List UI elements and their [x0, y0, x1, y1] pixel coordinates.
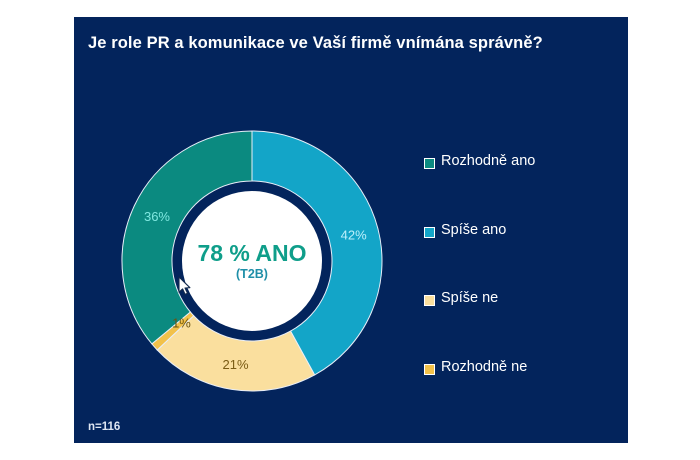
legend-item[interactable]: Rozhodně ano	[418, 158, 618, 227]
legend-item-label: Spíše ne	[441, 290, 498, 306]
mouse-pointer-icon	[178, 276, 192, 296]
presentation-slide: Je role PR a komunikace ve Vaší firmě vn…	[74, 17, 628, 443]
page-title: Je role PR a komunikace ve Vaší firmě vn…	[88, 34, 618, 53]
slice-value-label: 21%	[223, 357, 249, 372]
legend-swatch-icon	[424, 364, 435, 375]
screenshot-root: Je role PR a komunikace ve Vaší firmě vn…	[0, 0, 700, 460]
slice-value-label: 36%	[144, 209, 170, 224]
donut-chart: 42%21%1%36% 78 % ANO (T2B)	[122, 131, 382, 391]
legend-swatch-icon	[424, 158, 435, 169]
legend-swatch-icon	[424, 227, 435, 238]
center-sub-label: (T2B)	[236, 268, 268, 281]
sample-size-label: n=116	[88, 421, 120, 433]
legend-item[interactable]: Spíše ano	[418, 227, 618, 296]
legend-item[interactable]: Rozhodně ne	[418, 364, 618, 433]
legend-swatch-icon	[424, 295, 435, 306]
slice-value-label: 42%	[341, 227, 367, 242]
legend-item-label: Rozhodně ano	[441, 153, 535, 169]
slice-value-label: 1%	[172, 316, 191, 331]
chart-legend: Rozhodně anoSpíše anoSpíše neRozhodně ne	[418, 158, 618, 432]
legend-item[interactable]: Spíše ne	[418, 295, 618, 364]
donut-center-disc: 78 % ANO (T2B)	[182, 191, 322, 331]
center-main-value: 78 % ANO	[197, 241, 306, 265]
legend-item-label: Spíše ano	[441, 222, 506, 238]
legend-item-label: Rozhodně ne	[441, 359, 527, 375]
